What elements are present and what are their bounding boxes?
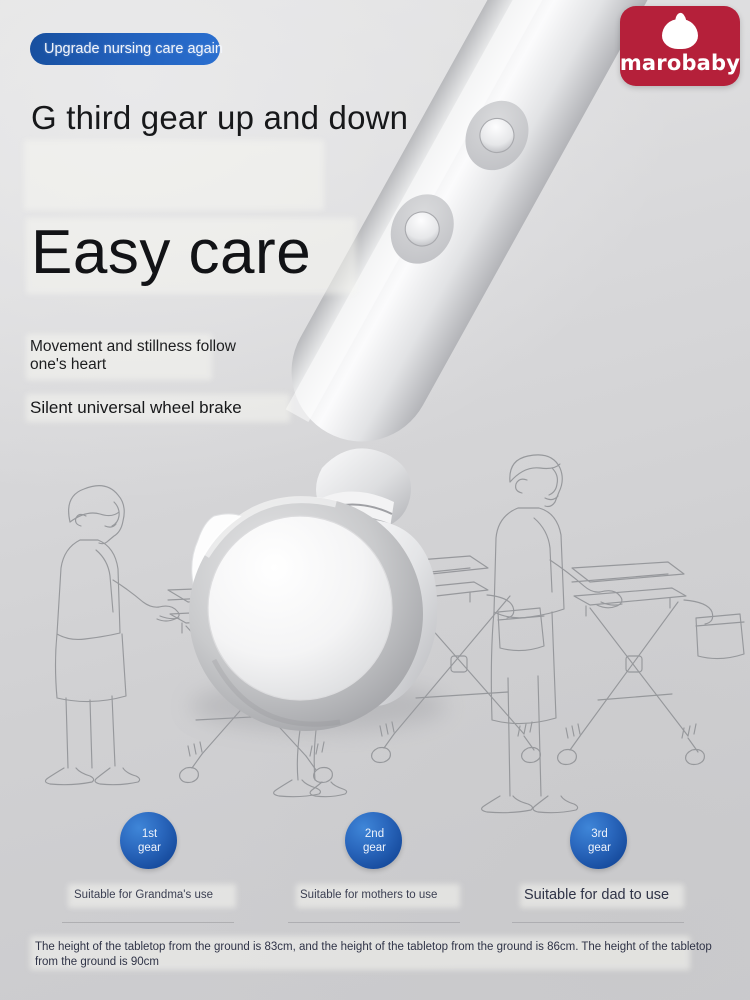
changing-table-left — [168, 584, 346, 783]
caption-rule-3 — [512, 922, 684, 923]
father-figure — [482, 455, 622, 813]
gear-1-number: 1st — [120, 827, 177, 841]
feature-text-1: Movement and stillness follow one's hear… — [30, 338, 240, 373]
badge-label: Upgrade nursing care again — [44, 33, 223, 65]
gear-badge-2[interactable]: 2nd gear — [345, 812, 402, 869]
gear-3-caption: Suitable for dad to use — [524, 887, 669, 903]
baby-head-icon — [660, 13, 700, 49]
gear-2-unit: gear — [345, 841, 402, 855]
gear-badge-3[interactable]: 3rd gear — [570, 812, 627, 869]
gear-1-caption: Suitable for Grandma's use — [74, 889, 213, 901]
gear-3-unit: gear — [570, 841, 627, 855]
brand-logo[interactable]: marobaby — [620, 6, 740, 86]
gear-2-number: 2nd — [345, 827, 402, 841]
marketing-page: marobaby Upgrade nursing care again G th… — [0, 0, 750, 1000]
footnote: The height of the tabletop from the grou… — [35, 940, 725, 970]
caption-rule-1 — [62, 922, 234, 923]
mother-figure — [274, 730, 347, 797]
lineart-scene — [0, 430, 750, 830]
ghost-block — [24, 140, 324, 210]
gear-badge-1[interactable]: 1st gear — [120, 812, 177, 869]
changing-table-right — [558, 562, 744, 765]
brand-name: marobaby — [620, 51, 740, 75]
subheading: G third gear up and down — [31, 99, 408, 137]
gear-2-caption: Suitable for mothers to use — [300, 889, 437, 901]
changing-table-middle — [372, 556, 544, 763]
gear-1-unit: gear — [120, 841, 177, 855]
feature-text-2: Silent universal wheel brake — [30, 398, 242, 418]
gear-3-number: 3rd — [570, 827, 627, 841]
grandmother-figure — [45, 486, 179, 785]
caption-rule-2 — [288, 922, 460, 923]
page-title: Easy care — [31, 222, 311, 284]
